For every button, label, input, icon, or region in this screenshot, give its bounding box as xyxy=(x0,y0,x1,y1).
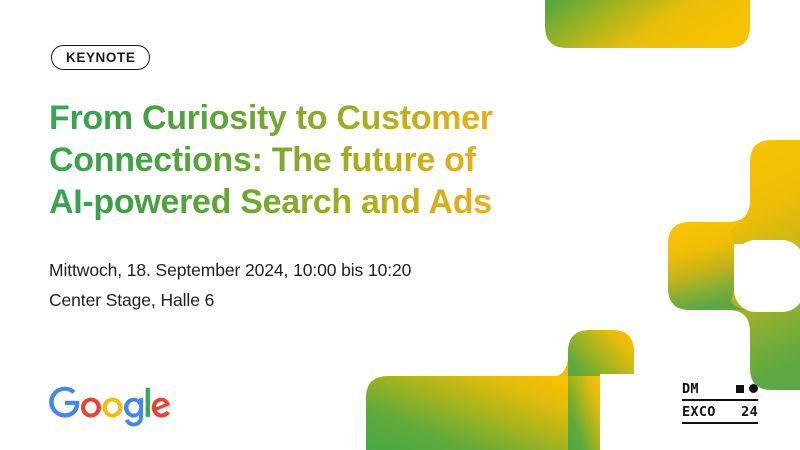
dmexco-exco-text: EXCO xyxy=(682,404,716,420)
dmexco-bottom-row: EXCO 24 xyxy=(682,401,758,422)
session-details: Mittwoch, 18. September 2024, 10:00 bis … xyxy=(49,255,411,315)
title-line-2: Connections: The future of xyxy=(49,139,579,181)
dmexco-top-row: DM xyxy=(682,378,758,399)
keynote-badge: KEYNOTE xyxy=(51,45,150,70)
dmexco-year-text: 24 xyxy=(741,404,758,420)
dmexco-logo: DM EXCO 24 xyxy=(682,378,758,426)
keynote-slide: KEYNOTE From Curiosity to Customer Conne… xyxy=(0,0,800,450)
dmexco-dm-text: DM xyxy=(682,381,699,397)
slide-content: KEYNOTE From Curiosity to Customer Conne… xyxy=(0,0,800,450)
google-logo xyxy=(49,386,171,428)
dmexco-divider-bottom xyxy=(682,422,758,424)
title-line-1: From Curiosity to Customer xyxy=(49,97,579,139)
page-title: From Curiosity to Customer Connections: … xyxy=(49,97,579,223)
circle-icon xyxy=(749,384,758,393)
square-icon xyxy=(736,385,744,393)
session-datetime: Mittwoch, 18. September 2024, 10:00 bis … xyxy=(49,255,411,285)
dmexco-marks xyxy=(736,384,758,393)
session-location: Center Stage, Halle 6 xyxy=(49,285,411,315)
title-line-3: AI-powered Search and Ads xyxy=(49,181,579,223)
